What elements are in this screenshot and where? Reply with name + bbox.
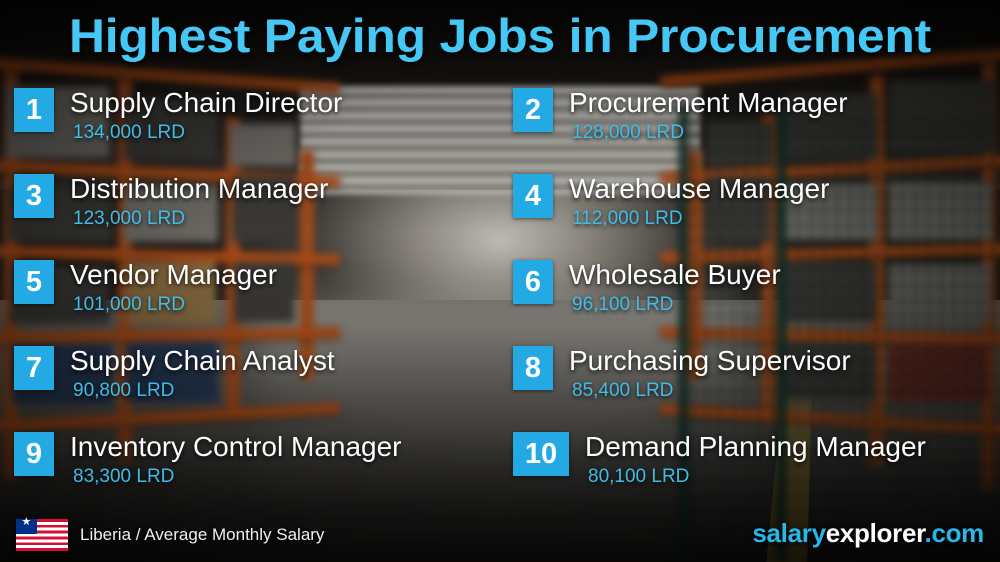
rank-badge: 1: [14, 88, 54, 132]
rank-badge: 5: [14, 260, 54, 304]
list-item-texts: Wholesale Buyer 96,100 LRD: [569, 258, 781, 317]
job-salary: 101,000 LRD: [73, 293, 277, 317]
rank-badge: 3: [14, 174, 54, 218]
logo-part-explorer: explorer: [826, 518, 925, 548]
rank-badge: 2: [513, 88, 553, 132]
job-title: Inventory Control Manager: [70, 430, 402, 464]
list-item[interactable]: 1 Supply Chain Director 134,000 LRD: [14, 86, 504, 156]
rank-badge: 8: [513, 346, 553, 390]
logo-part-salary: salary: [752, 518, 825, 548]
list-item[interactable]: 10 Demand Planning Manager 80,100 LRD: [513, 430, 1000, 500]
rank-badge: 6: [513, 260, 553, 304]
rank-badge: 9: [14, 432, 54, 476]
list-item-texts: Procurement Manager 128,000 LRD: [569, 86, 848, 145]
job-salary: 90,800 LRD: [73, 379, 335, 403]
list-item[interactable]: 3 Distribution Manager 123,000 LRD: [14, 172, 504, 242]
list-item[interactable]: 9 Inventory Control Manager 83,300 LRD: [14, 430, 504, 500]
job-salary: 134,000 LRD: [73, 121, 342, 145]
list-item-texts: Demand Planning Manager 80,100 LRD: [585, 430, 926, 489]
job-title: Vendor Manager: [70, 258, 277, 292]
job-salary: 80,100 LRD: [588, 465, 926, 489]
list-item[interactable]: 4 Warehouse Manager 112,000 LRD: [513, 172, 1000, 242]
job-title: Purchasing Supervisor: [569, 344, 851, 378]
rank-badge: 10: [513, 432, 569, 476]
job-salary: 83,300 LRD: [73, 465, 402, 489]
job-salary: 112,000 LRD: [572, 207, 829, 231]
liberia-flag-icon: [16, 519, 68, 551]
job-salary: 128,000 LRD: [572, 121, 848, 145]
flag-canton: [16, 519, 37, 534]
job-title: Distribution Manager: [70, 172, 328, 206]
list-item[interactable]: 6 Wholesale Buyer 96,100 LRD: [513, 258, 1000, 328]
page-title: Highest Paying Jobs in Procurement: [0, 8, 1000, 63]
job-salary: 96,100 LRD: [572, 293, 781, 317]
content-layer: Highest Paying Jobs in Procurement 1 Sup…: [0, 0, 1000, 562]
job-title: Warehouse Manager: [569, 172, 829, 206]
job-title: Supply Chain Director: [70, 86, 342, 120]
job-title: Supply Chain Analyst: [70, 344, 335, 378]
list-item-texts: Purchasing Supervisor 85,400 LRD: [569, 344, 851, 403]
rank-badge: 4: [513, 174, 553, 218]
logo-part-domain: .com: [925, 518, 984, 548]
job-salary: 85,400 LRD: [572, 379, 851, 403]
footer-caption: Liberia / Average Monthly Salary: [80, 525, 324, 545]
job-title: Demand Planning Manager: [585, 430, 926, 464]
list-item[interactable]: 2 Procurement Manager 128,000 LRD: [513, 86, 1000, 156]
list-item[interactable]: 5 Vendor Manager 101,000 LRD: [14, 258, 504, 328]
footer: Liberia / Average Monthly Salary salarye…: [0, 506, 1000, 562]
job-title: Wholesale Buyer: [569, 258, 781, 292]
rank-badge: 7: [14, 346, 54, 390]
list-item[interactable]: 7 Supply Chain Analyst 90,800 LRD: [14, 344, 504, 414]
list-item-texts: Distribution Manager 123,000 LRD: [70, 172, 328, 231]
job-title: Procurement Manager: [569, 86, 848, 120]
list-item-texts: Vendor Manager 101,000 LRD: [70, 258, 277, 317]
list-item-texts: Inventory Control Manager 83,300 LRD: [70, 430, 402, 489]
list-item-texts: Warehouse Manager 112,000 LRD: [569, 172, 829, 231]
list-item-texts: Supply Chain Analyst 90,800 LRD: [70, 344, 335, 403]
list-item-texts: Supply Chain Director 134,000 LRD: [70, 86, 342, 145]
site-logo[interactable]: salaryexplorer.com: [752, 518, 984, 549]
infographic-canvas: Highest Paying Jobs in Procurement 1 Sup…: [0, 0, 1000, 562]
list-item[interactable]: 8 Purchasing Supervisor 85,400 LRD: [513, 344, 1000, 414]
job-salary: 123,000 LRD: [73, 207, 328, 231]
